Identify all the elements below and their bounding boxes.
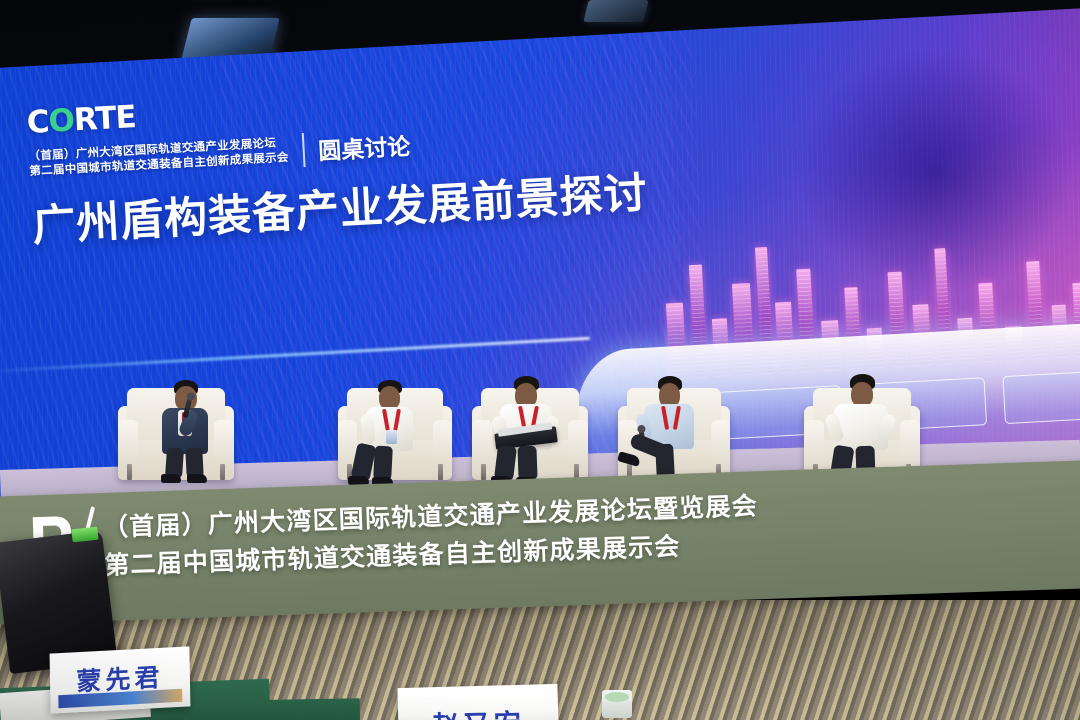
panelist-1 bbox=[156, 382, 226, 478]
chair-arm-right bbox=[433, 420, 452, 464]
name-placard: 蒙先君 bbox=[50, 646, 191, 713]
panel-seat bbox=[118, 382, 234, 494]
subtitle-lines: （首届）广州大湾区国际轨道交通产业发展论坛 第二届中国城市轨道交通装备自主创新成… bbox=[28, 136, 289, 179]
panelist-4 bbox=[632, 382, 710, 480]
chair-arm-left bbox=[118, 420, 138, 464]
panelist-3 bbox=[488, 382, 564, 480]
panelist-5 bbox=[824, 382, 902, 480]
placard-name: 赵又宏 bbox=[398, 701, 559, 720]
cup-lid bbox=[605, 692, 629, 702]
shoe bbox=[187, 474, 207, 483]
chair-arm-right bbox=[568, 420, 588, 464]
leg bbox=[517, 446, 537, 481]
green-light-indicator bbox=[71, 527, 98, 543]
logo-text: CORTE bbox=[26, 102, 136, 139]
paper-cup bbox=[602, 690, 632, 718]
chair-arm-right bbox=[711, 420, 730, 464]
logo-accent-letter: O bbox=[48, 102, 75, 139]
panelist-2 bbox=[352, 384, 424, 480]
name-placard: 赵又宏 bbox=[397, 684, 558, 720]
session-label: 圆桌讨论 bbox=[317, 127, 411, 166]
chair-arm-right bbox=[900, 420, 920, 464]
leg bbox=[373, 446, 393, 481]
name-badge bbox=[386, 430, 397, 444]
stage-scene: CORTE （首届）广州大湾区国际轨道交通产业发展论坛 第二届中国城市轨道交通装… bbox=[0, 0, 1080, 720]
banner-text: （首届）广州大湾区国际轨道交通产业发展论坛暨览展会 第二届中国城市轨道交通装备自… bbox=[102, 487, 759, 585]
stage-light bbox=[583, 0, 648, 22]
shoe bbox=[161, 474, 181, 483]
panel-seat bbox=[338, 384, 452, 494]
vertical-divider bbox=[301, 133, 305, 167]
chair-arm-left bbox=[804, 420, 824, 464]
